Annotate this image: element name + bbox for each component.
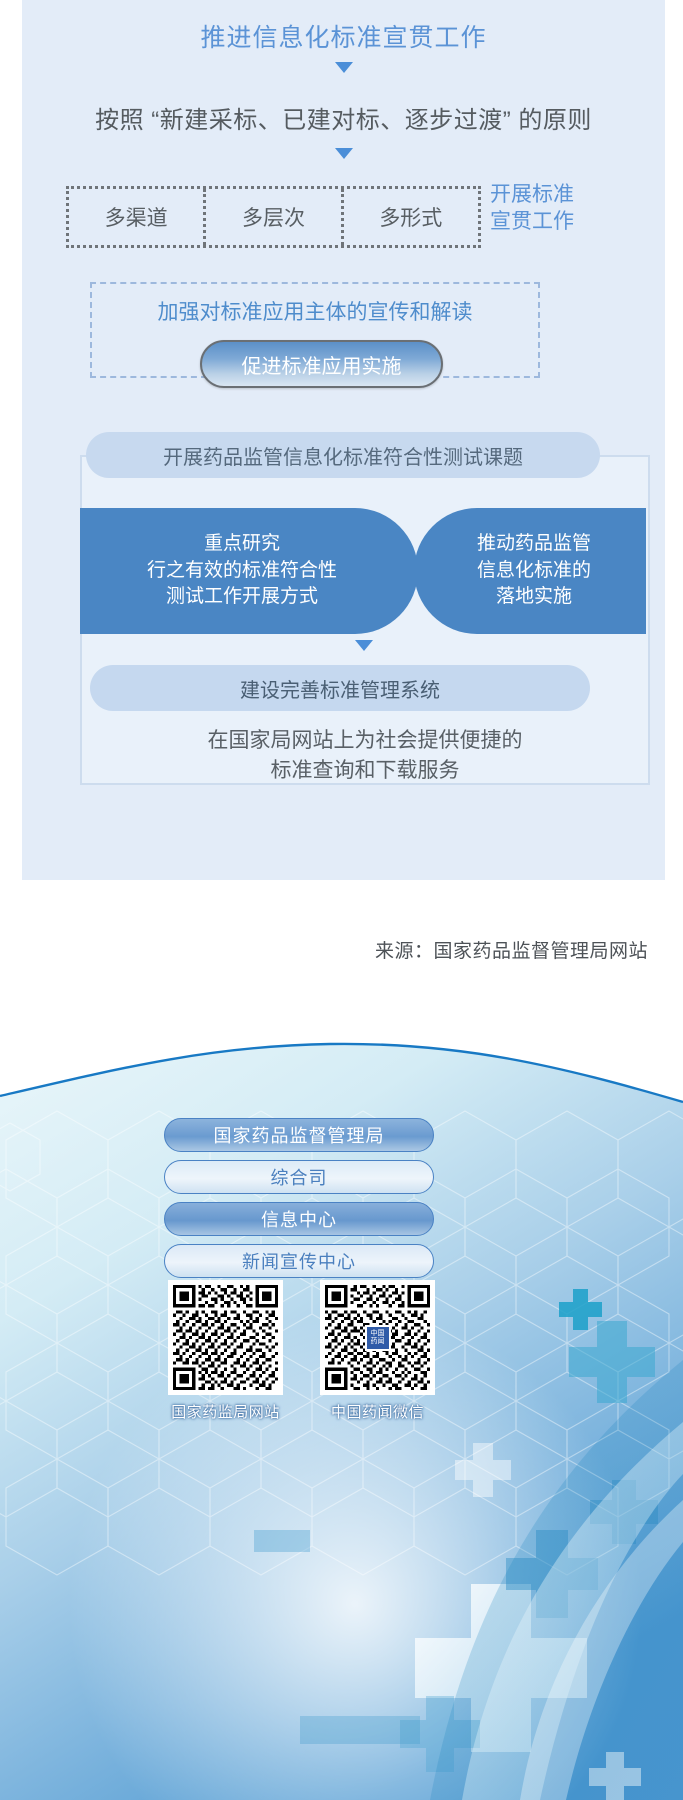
arrow-1: [22, 62, 665, 73]
column-right-card: 推动药品监管 信息化标准的 落地实施: [414, 508, 646, 634]
two-column-group: 重点研究 行之有效的标准符合性 测试工作开展方式 推动药品监管 信息化标准的 落…: [80, 508, 650, 634]
org-button-1[interactable]: 国家药品监督管理局: [164, 1118, 434, 1152]
column-right-line-2: 信息化标准的: [477, 558, 591, 585]
channel-item-2: 多层次: [206, 189, 343, 245]
arrow-2: [22, 148, 665, 159]
qr-caption-wechat: 中国药闻微信: [320, 1401, 435, 1422]
column-right-line-3: 落地实施: [477, 584, 591, 611]
system-description-line-2: 标准查询和下载服务: [80, 756, 650, 786]
page-title: 推进信息化标准宣贯工作: [22, 18, 665, 54]
org-button-list: 国家药品监督管理局 综合司 信息中心 新闻宣传中心: [164, 1118, 434, 1286]
promotion-text: 加强对标准应用主体的宣传和解读: [90, 296, 540, 326]
promotion-pill-button[interactable]: 促进标准应用实施: [200, 340, 443, 388]
source-attribution: 来源：国家药品监督管理局网站: [0, 936, 683, 963]
qr-center-logo: 中国 药闻: [365, 1325, 391, 1351]
channel-side-label: 开展标准 宣贯工作: [490, 182, 640, 236]
infographic-panel: 推进信息化标准宣贯工作 按照 “新建采标、已建对标、逐步过渡” 的原则 多渠道 …: [22, 0, 665, 880]
qr-code-website-image[interactable]: [168, 1280, 283, 1395]
qr-logo-line-1: 中国: [371, 1330, 385, 1337]
channel-side-line-2: 宣贯工作: [490, 209, 640, 236]
column-right-line-1: 推动药品监管: [477, 531, 591, 558]
footer-banner: 国家药品监督管理局 综合司 信息中心 新闻宣传中心: [0, 1030, 683, 1800]
channel-side-line-1: 开展标准: [490, 182, 640, 209]
chevron-down-icon: [355, 640, 373, 651]
qr-code-wechat-image[interactable]: 中国 药闻: [320, 1280, 435, 1395]
column-left-line-1: 重点研究: [147, 531, 337, 558]
arrow-3: [22, 640, 683, 651]
qr-code-row: 国家药监局网站: [168, 1280, 468, 1422]
qr-logo-line-2: 药闻: [371, 1338, 385, 1345]
channel-group: 多渠道 多层次 多形式: [66, 186, 481, 248]
system-description-line-1: 在国家局网站上为社会提供便捷的: [80, 726, 650, 756]
principle-text: 按照 “新建采标、已建对标、逐步过渡” 的原则: [22, 100, 665, 135]
qr-item-website: 国家药监局网站: [168, 1280, 283, 1422]
qr-item-wechat: 中国 药闻 中国药闻微信: [320, 1280, 435, 1422]
qr-caption-website: 国家药监局网站: [168, 1401, 283, 1422]
org-button-2[interactable]: 综合司: [164, 1160, 434, 1194]
column-left-line-3: 测试工作开展方式: [147, 584, 337, 611]
org-button-3[interactable]: 信息中心: [164, 1202, 434, 1236]
org-button-4[interactable]: 新闻宣传中心: [164, 1244, 434, 1278]
chevron-down-icon: [335, 62, 353, 73]
channel-item-1: 多渠道: [69, 189, 206, 245]
subject-heading-pill: 开展药品监管信息化标准符合性测试课题: [86, 432, 600, 478]
system-pill: 建设完善标准管理系统: [90, 665, 590, 711]
column-left-line-2: 行之有效的标准符合性: [147, 558, 337, 585]
chevron-down-icon: [335, 148, 353, 159]
infographic-page: 推进信息化标准宣贯工作 按照 “新建采标、已建对标、逐步过渡” 的原则 多渠道 …: [0, 0, 683, 1800]
channel-item-3: 多形式: [344, 189, 478, 245]
column-left-card: 重点研究 行之有效的标准符合性 测试工作开展方式: [80, 508, 418, 634]
system-description: 在国家局网站上为社会提供便捷的 标准查询和下载服务: [80, 726, 650, 787]
